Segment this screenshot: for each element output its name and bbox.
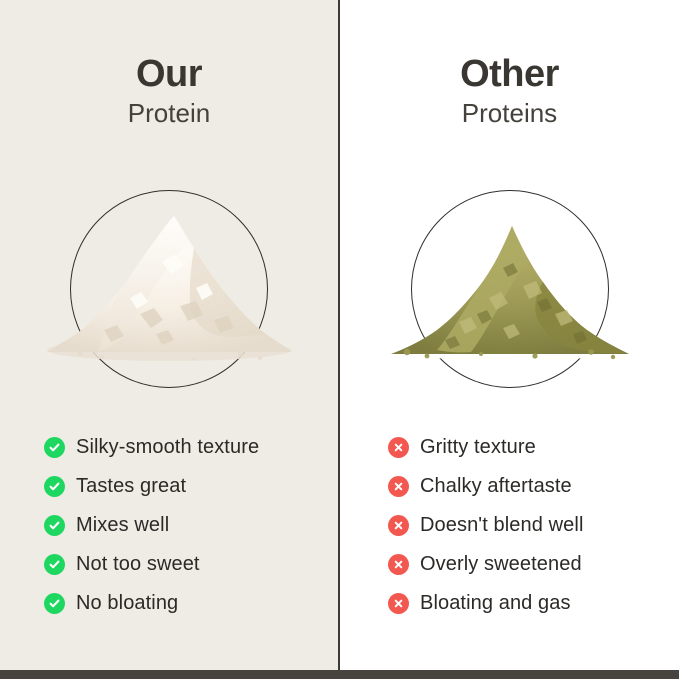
left-feature-list: Silky-smooth texture Tastes great: [0, 428, 338, 623]
list-item-label: No bloating: [76, 592, 178, 615]
comparison-panels: Our Protein: [0, 0, 679, 670]
list-item: Silky-smooth texture: [44, 428, 338, 467]
panel-other-proteins: Other Proteins: [340, 0, 679, 670]
green-powder-image: [385, 202, 635, 362]
list-item-label: Bloating and gas: [420, 592, 571, 615]
x-circle-icon: [388, 593, 409, 614]
check-circle-icon: [44, 437, 65, 458]
list-item: Overly sweetened: [388, 545, 679, 584]
left-heading-main: Our: [0, 55, 338, 95]
x-circle-icon: [388, 437, 409, 458]
list-item-label: Tastes great: [76, 475, 186, 498]
right-heading-sub: Proteins: [340, 98, 679, 129]
panel-our-protein: Our Protein: [0, 0, 340, 670]
x-circle-icon: [388, 476, 409, 497]
list-item: Doesn't blend well: [388, 506, 679, 545]
right-heading-main: Other: [340, 55, 679, 95]
check-circle-icon: [44, 476, 65, 497]
list-item: Tastes great: [44, 467, 338, 506]
left-product-circle: [70, 190, 268, 388]
list-item: Chalky aftertaste: [388, 467, 679, 506]
white-powder-image: [44, 202, 294, 362]
list-item-label: Doesn't blend well: [420, 514, 584, 537]
list-item-label: Overly sweetened: [420, 553, 582, 576]
list-item: No bloating: [44, 584, 338, 623]
list-item-label: Chalky aftertaste: [420, 475, 572, 498]
x-circle-icon: [388, 515, 409, 536]
right-feature-list: Gritty texture Chalky aftertaste: [340, 428, 679, 623]
list-item: Not too sweet: [44, 545, 338, 584]
right-product-circle: [411, 190, 609, 388]
list-item: Bloating and gas: [388, 584, 679, 623]
list-item-label: Not too sweet: [76, 553, 200, 576]
left-heading-sub: Protein: [0, 98, 338, 129]
check-circle-icon: [44, 593, 65, 614]
list-item-label: Gritty texture: [420, 436, 536, 459]
bottom-bar: [0, 670, 679, 679]
x-circle-icon: [388, 554, 409, 575]
left-heading-block: Our Protein: [0, 55, 338, 129]
list-item: Mixes well: [44, 506, 338, 545]
check-circle-icon: [44, 554, 65, 575]
comparison-infographic: Our Protein: [0, 0, 679, 679]
list-item-label: Mixes well: [76, 514, 169, 537]
list-item: Gritty texture: [388, 428, 679, 467]
check-circle-icon: [44, 515, 65, 536]
list-item-label: Silky-smooth texture: [76, 436, 259, 459]
right-heading-block: Other Proteins: [340, 55, 679, 129]
